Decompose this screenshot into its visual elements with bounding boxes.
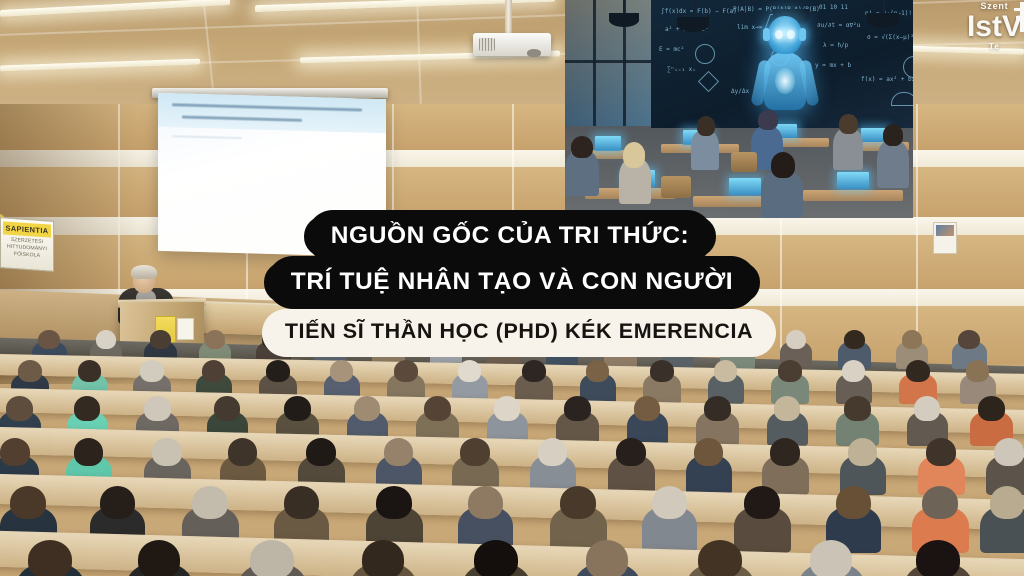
audience-person-head [844, 396, 871, 421]
board-diagram-icon [695, 44, 715, 64]
audience-person-head [138, 540, 180, 576]
audience-person-head [18, 360, 42, 382]
audience-person-head [586, 360, 609, 382]
board-formula: y = mx + b [815, 62, 851, 69]
ai-chair [731, 152, 757, 172]
board-diagram-icon [903, 56, 913, 78]
ai-student-body [691, 130, 719, 170]
ai-robot-head [768, 16, 802, 54]
ai-robot-eye [787, 30, 795, 39]
audience-person-head [966, 360, 989, 382]
audience-person-head [994, 438, 1024, 466]
board-formula: ∫f(x)dx = F(b) − F(a) [661, 8, 737, 15]
audience-person-head [906, 360, 930, 382]
audience-person-head [538, 438, 567, 466]
audience-person-head [266, 360, 290, 382]
ai-student-head [758, 110, 778, 130]
board-formula: λ = h/p [823, 42, 848, 49]
board-formula: ∂u/∂t = α∇²u [817, 22, 860, 29]
ai-laptop-screen [729, 178, 761, 195]
ai-classroom-inset-image: ∫f(x)dx = F(b) − F(a) a² + b² = c² E = m… [565, 0, 913, 218]
audience-person-head [836, 486, 871, 519]
ai-student-head [839, 114, 858, 134]
audience-person-head [78, 360, 101, 382]
ai-student-body [877, 140, 909, 188]
audience-person-head [522, 360, 546, 382]
audience-person-head [744, 486, 780, 519]
audience-person-head [74, 396, 100, 421]
audience-person-head [306, 438, 336, 466]
audience-person-head [842, 360, 865, 382]
slide-text-line [172, 135, 242, 139]
audience-person-head [10, 486, 46, 519]
projector-mount [505, 0, 512, 36]
audience-person-head [474, 540, 518, 576]
board-formula: ∑ⁿᵢ₌₁ xᵢ [667, 66, 696, 73]
audience-person-head [616, 438, 646, 466]
ai-student-head [571, 136, 593, 158]
audience-person-head [694, 438, 723, 466]
audience-person-head [394, 360, 418, 382]
video-thumbnail: SAPIENTIA SZERZETESI HITTUDOMÁNYI FŐISKO… [0, 0, 1024, 576]
ai-student-head [771, 152, 795, 178]
title-line-2-row: TRÍ TUỆ NHÂN TẠO VÀ CON NGƯỜI [273, 262, 751, 303]
audience-person-head [228, 438, 257, 466]
audience-person-head [774, 396, 800, 421]
title-line-1-row: NGUỒN GỐC CỦA TRI THỨC: [313, 216, 708, 257]
audience-person-head [586, 540, 628, 576]
audience-person-head [770, 438, 800, 466]
audience-person-head [362, 540, 404, 576]
audience-person-head [778, 360, 802, 382]
ai-robot-ear [799, 28, 806, 41]
title-line-2: TRÍ TUỆ NHÂN TẠO VÀ CON NGƯỜI [273, 262, 751, 303]
audience-person-head [0, 438, 30, 466]
audience-person-head [914, 396, 940, 421]
board-formula: E = mc² [659, 46, 684, 53]
audience-seating [0, 330, 1024, 576]
ai-student-head [697, 116, 715, 136]
audience-person-head [284, 486, 319, 519]
title-overlay: NGUỒN GỐC CỦA TRI THỨC: TRÍ TUỆ NHÂN TẠO… [0, 216, 1024, 351]
ai-robot-core-light [775, 68, 795, 94]
ai-pendant-lamp [677, 17, 709, 32]
audience-person-head [74, 438, 103, 466]
audience-person-head [140, 360, 164, 382]
audience-person-head [978, 396, 1005, 421]
audience-person-head [564, 396, 591, 421]
audience-person-head [714, 360, 737, 382]
board-formula: 01 10 11 [819, 4, 848, 11]
ai-robot-eye [775, 30, 783, 39]
projector-device [473, 33, 551, 56]
audience-person-head [634, 396, 660, 421]
audience-person-head [922, 486, 958, 519]
audience-person-head [354, 396, 380, 421]
ai-laptop-screen [595, 136, 621, 151]
ai-pendant-lamp [609, 13, 639, 27]
audience-person-head [650, 360, 674, 382]
audience-person-head [560, 486, 596, 519]
ai-student-head [883, 124, 903, 146]
audience-person-head [458, 360, 481, 382]
board-formula: f(x) = ax² + bx + c [861, 76, 913, 83]
ai-lamp-rod [883, 0, 885, 14]
ai-lamp-rod [693, 0, 695, 18]
ai-chair [661, 176, 691, 198]
audience-person-head [698, 540, 742, 576]
title-line-3-row: TIẾN SĨ THẦN HỌC (PHD) KÉK EMERENCIA [268, 315, 770, 351]
audience-person-head [848, 438, 877, 466]
audience-person-head [192, 486, 228, 519]
ai-window-bar [593, 0, 596, 126]
audience-person-head [652, 486, 687, 519]
audience-person-head [424, 396, 451, 421]
audience-person-head [284, 396, 311, 421]
audience-person-head [990, 486, 1024, 519]
ai-student-body [833, 128, 863, 170]
audience-person-head [384, 438, 413, 466]
ai-robot-ear [763, 28, 770, 41]
audience-person-head [704, 396, 731, 421]
audience-person-head [202, 360, 225, 382]
ai-lamp-rod [623, 0, 625, 14]
audience-person-head [6, 396, 33, 421]
audience-person-head [214, 396, 240, 421]
title-line-3: TIẾN SĨ THẦN HỌC (PHD) KÉK EMERENCIA [268, 315, 770, 351]
audience-person-head [468, 486, 503, 519]
audience-person-head [926, 438, 956, 466]
audience-person-head [810, 540, 852, 576]
board-formula: σ = √(Σ(x−μ)²/N) [867, 34, 913, 41]
audience-person-head [460, 438, 490, 466]
audience-person-head [250, 540, 294, 576]
audience-person-head [100, 486, 135, 519]
slide-header-band [158, 93, 386, 133]
audience-person-head [144, 396, 171, 421]
audience-person-head [28, 540, 72, 576]
ai-desk [803, 190, 903, 201]
board-diagram-icon [891, 92, 913, 106]
audience-person-head [376, 486, 412, 519]
ai-student-head [623, 142, 645, 168]
audience-person-head [152, 438, 182, 466]
ai-laptop-screen [837, 172, 869, 189]
ai-pendant-lamp [867, 13, 899, 28]
audience-person-head [916, 540, 960, 576]
ai-window-bar [565, 60, 651, 63]
board-diagram-icon [698, 71, 719, 92]
audience-person-head [494, 396, 520, 421]
audience-person-head [330, 360, 353, 382]
board-formula: Δy/Δx [731, 88, 749, 95]
title-line-1: NGUỒN GỐC CỦA TRI THỨC: [313, 216, 708, 257]
